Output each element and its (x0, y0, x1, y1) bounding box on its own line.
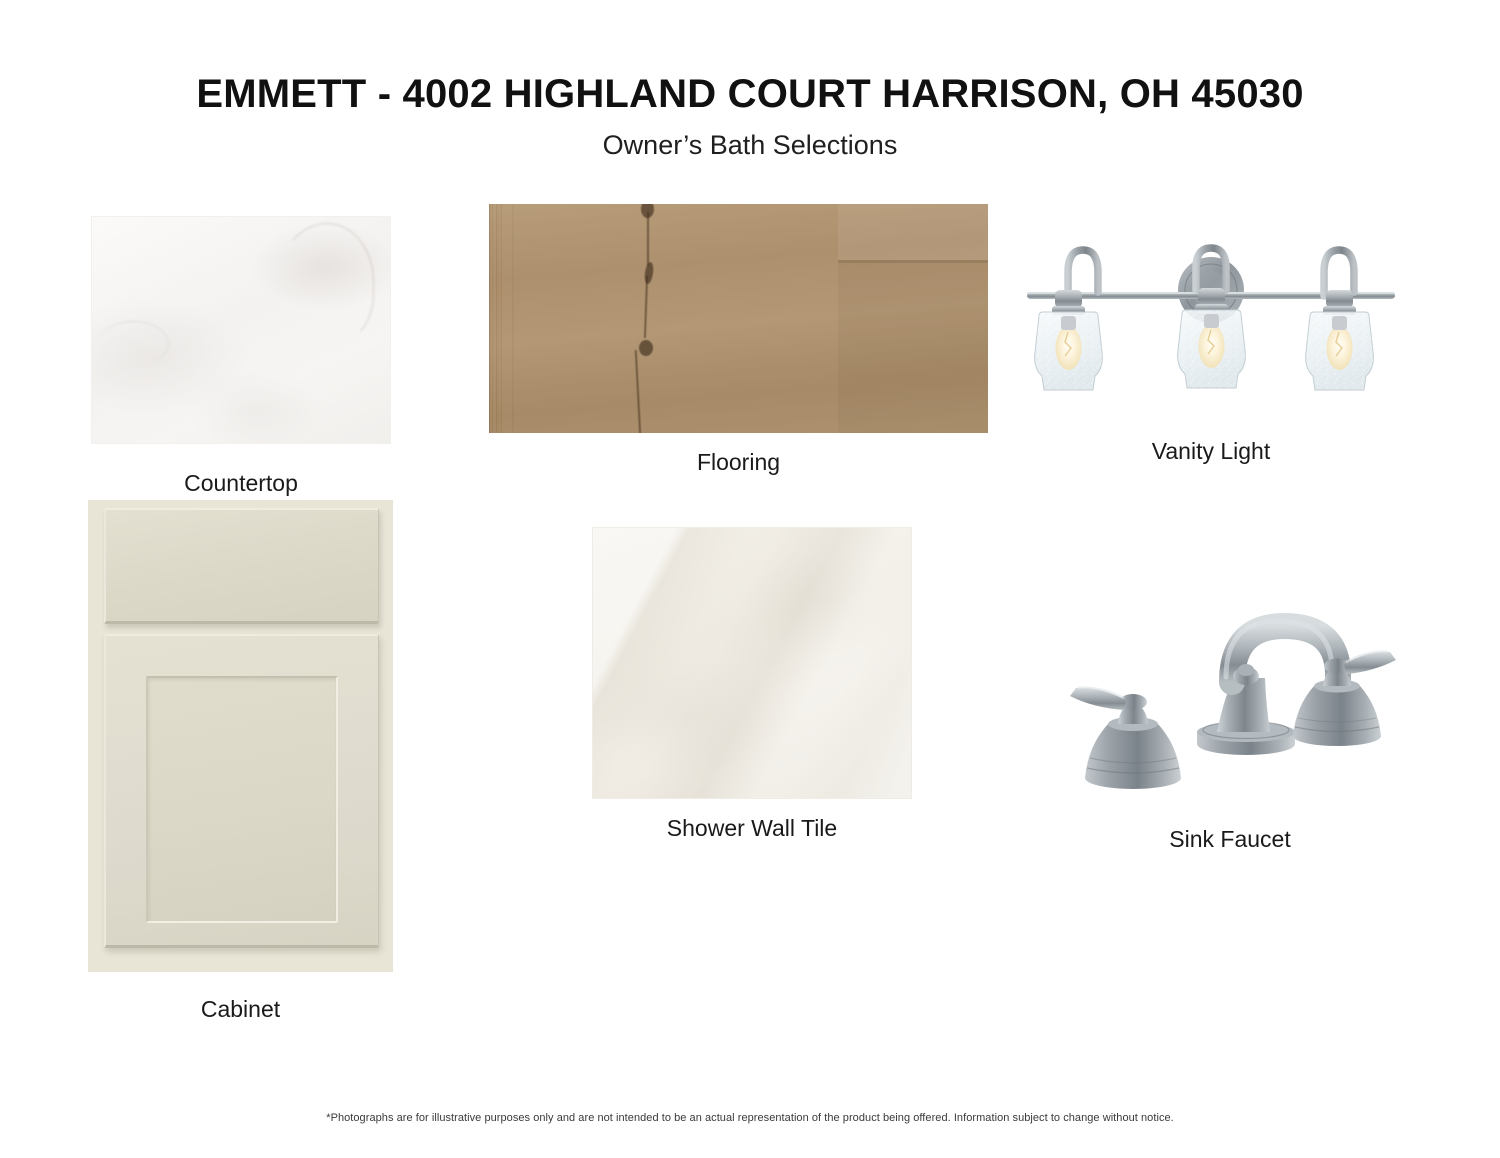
disclaimer-note: *Photographs are for illustrative purpos… (0, 1112, 1500, 1124)
caption-vanity-light: Vanity Light (1009, 420, 1413, 465)
flooring-grain-crack (647, 212, 649, 266)
countertop-swatch (91, 216, 391, 444)
caption-flooring: Flooring (489, 433, 988, 476)
flooring-plank-shade (838, 263, 988, 433)
countertop-vein (98, 321, 169, 366)
page-subtitle: Owner’s Bath Selections (0, 116, 1500, 161)
flooring-swatch (489, 204, 988, 433)
vanity-light-photo (1009, 228, 1413, 420)
page-footer: *Photographs are for illustrative purpos… (0, 1112, 1500, 1124)
caption-cabinet: Cabinet (88, 972, 393, 1023)
flooring-plank-shade (838, 204, 988, 260)
caption-shower-wall-tile: Shower Wall Tile (592, 799, 912, 842)
page-title: EMMETT - 4002 HIGHLAND COURT HARRISON, O… (0, 0, 1500, 116)
cabinet-recessed-panel (146, 676, 338, 923)
cabinet-drawer-front (104, 508, 379, 624)
flooring-grain-crack (644, 276, 648, 338)
flooring-grain-crack (635, 350, 641, 433)
sink-faucet-photo (1060, 596, 1400, 804)
shower-wall-tile-swatch (592, 527, 912, 799)
caption-countertop: Countertop (91, 444, 391, 497)
page-header: EMMETT - 4002 HIGHLAND COURT HARRISON, O… (0, 0, 1500, 161)
selection-card-cabinet: Cabinet (88, 500, 393, 1023)
sink-faucet-icon (1060, 596, 1400, 804)
selection-card-flooring: Flooring (489, 204, 988, 476)
selection-card-countertop: Countertop (91, 216, 391, 497)
selection-card-shower-wall-tile: Shower Wall Tile (592, 527, 912, 842)
cabinet-photo (88, 500, 393, 972)
countertop-vein (276, 223, 374, 345)
caption-sink-faucet: Sink Faucet (1060, 804, 1400, 853)
flooring-knot (639, 340, 653, 356)
vanity-light-icon (1009, 228, 1413, 420)
selection-card-vanity-light: Vanity Light (1009, 228, 1413, 465)
cabinet-door (104, 634, 379, 948)
selection-card-sink-faucet: Sink Faucet (1060, 596, 1400, 853)
